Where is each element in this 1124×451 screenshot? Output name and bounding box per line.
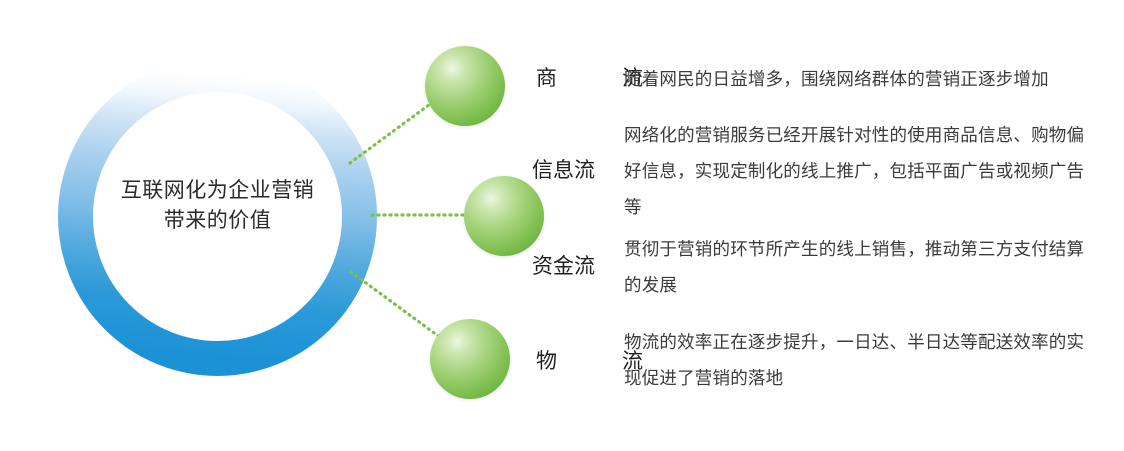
node-sphere-1[interactable] [425, 46, 505, 126]
node-sphere-3[interactable] [430, 319, 510, 399]
node-label-3: 资金流 [532, 251, 624, 281]
node-row-1: 商 流 随着网民的日益增多，围绕网络群体的营销正逐步增加 [532, 61, 1094, 97]
node-row-4: 物 流 物流的效率正在逐步提升，一日达、半日达等配送效率的实现促进了营销的落地 [532, 324, 1094, 396]
node-description-1: 随着网民的日益增多，围绕网络群体的营销正逐步增加 [624, 61, 1094, 97]
diagram-canvas: 互联网化为企业营销 带来的价值 商 流 随着网民的日益增多，围绕网络群体的营销正… [0, 0, 1124, 451]
central-ring: 互联网化为企业营销 带来的价值 [58, 57, 377, 376]
node-row-2: 信息流 网络化的营销服务已经开展针对性的使用商品信息、购物偏好信息，实现定制化的… [532, 117, 1094, 225]
node-description-3: 贯彻于营销的环节所产生的线上销售，推动第三方支付结算的发展 [624, 231, 1094, 303]
node-description-4: 物流的效率正在逐步提升，一日达、半日达等配送效率的实现促进了营销的落地 [624, 324, 1094, 396]
center-label: 互联网化为企业营销 带来的价值 [94, 175, 341, 235]
node-row-3: 资金流 贯彻于营销的环节所产生的线上销售，推动第三方支付结算的发展 [532, 231, 1094, 303]
node-description-2: 网络化的营销服务已经开展针对性的使用商品信息、购物偏好信息，实现定制化的线上推广… [624, 117, 1094, 225]
node-label-1: 商 流 [532, 63, 624, 93]
node-label-4: 物 流 [532, 346, 624, 376]
node-label-2: 信息流 [532, 155, 624, 185]
